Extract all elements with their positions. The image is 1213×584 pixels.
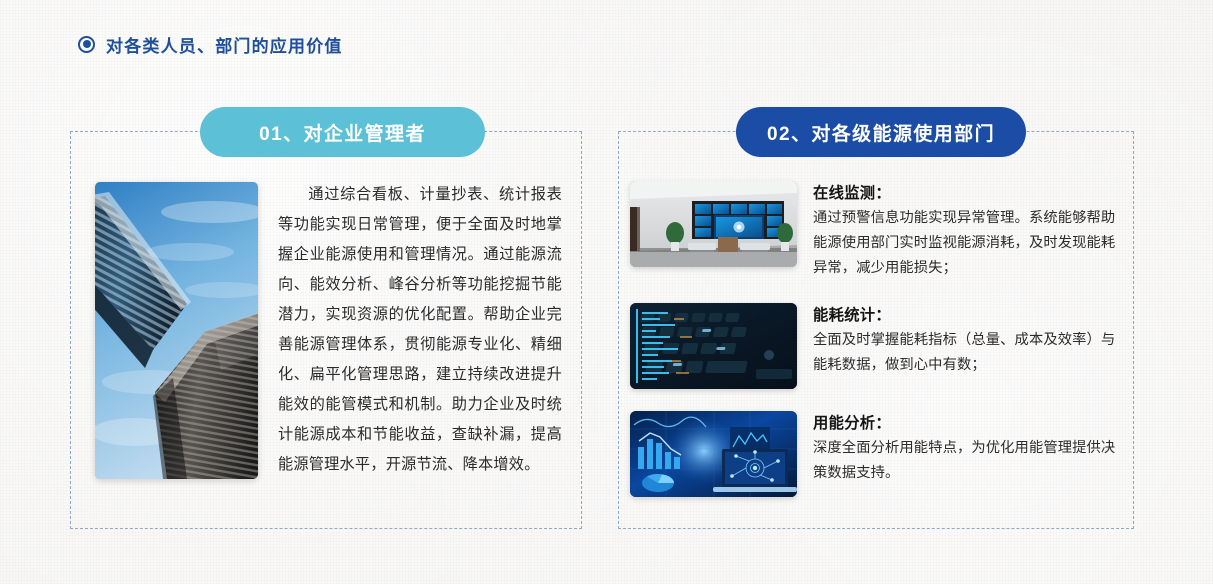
feature-title: 能耗统计： [813,304,1116,328]
target-dot-icon [78,36,95,53]
feature-description: 全面及时掌握能耗指标（总量、成本及效率）与能耗数据，做到心中有数； [813,328,1116,378]
feature-item-usage-analysis: 用能分析： 深度全面分析用能特点，为优化用能管理提供决策数据支持。 [630,411,1116,497]
page-title: 对各类人员、部门的应用价值 [106,32,343,57]
right-panel-content: 在线监测： 通过预警信息功能实现异常管理。系统能够帮助能源使用部门实时监视能源消… [618,131,1134,529]
control-room-video-wall-photo [630,181,797,267]
feature-item-online-monitoring: 在线监测： 通过预警信息功能实现异常管理。系统能够帮助能源使用部门实时监视能源消… [630,181,1116,281]
skyscrapers-photo [95,182,258,479]
left-panel-content: 通过综合看板、计量抄表、统计报表等功能实现日常管理，便于全面及时地掌握企业能源使… [70,131,582,529]
left-panel-paragraph: 通过综合看板、计量抄表、统计报表等功能实现日常管理，便于全面及时地掌握企业能源使… [278,180,562,480]
feature-title: 在线监测： [813,182,1116,206]
feature-title: 用能分析： [813,412,1116,436]
feature-item-energy-statistics: 能耗统计： 全面及时掌握能耗指标（总量、成本及效率）与能耗数据，做到心中有数； [630,303,1116,389]
feature-description: 深度全面分析用能特点，为优化用能管理提供决策数据支持。 [813,436,1116,486]
analytics-charts-laptop-photo [630,411,797,497]
keyboard-data-code-photo [630,303,797,389]
section-heading: 对各类人员、部门的应用价值 [78,30,343,58]
feature-description: 通过预警信息功能实现异常管理。系统能够帮助能源使用部门实时监视能源消耗，及时发现… [813,206,1116,281]
